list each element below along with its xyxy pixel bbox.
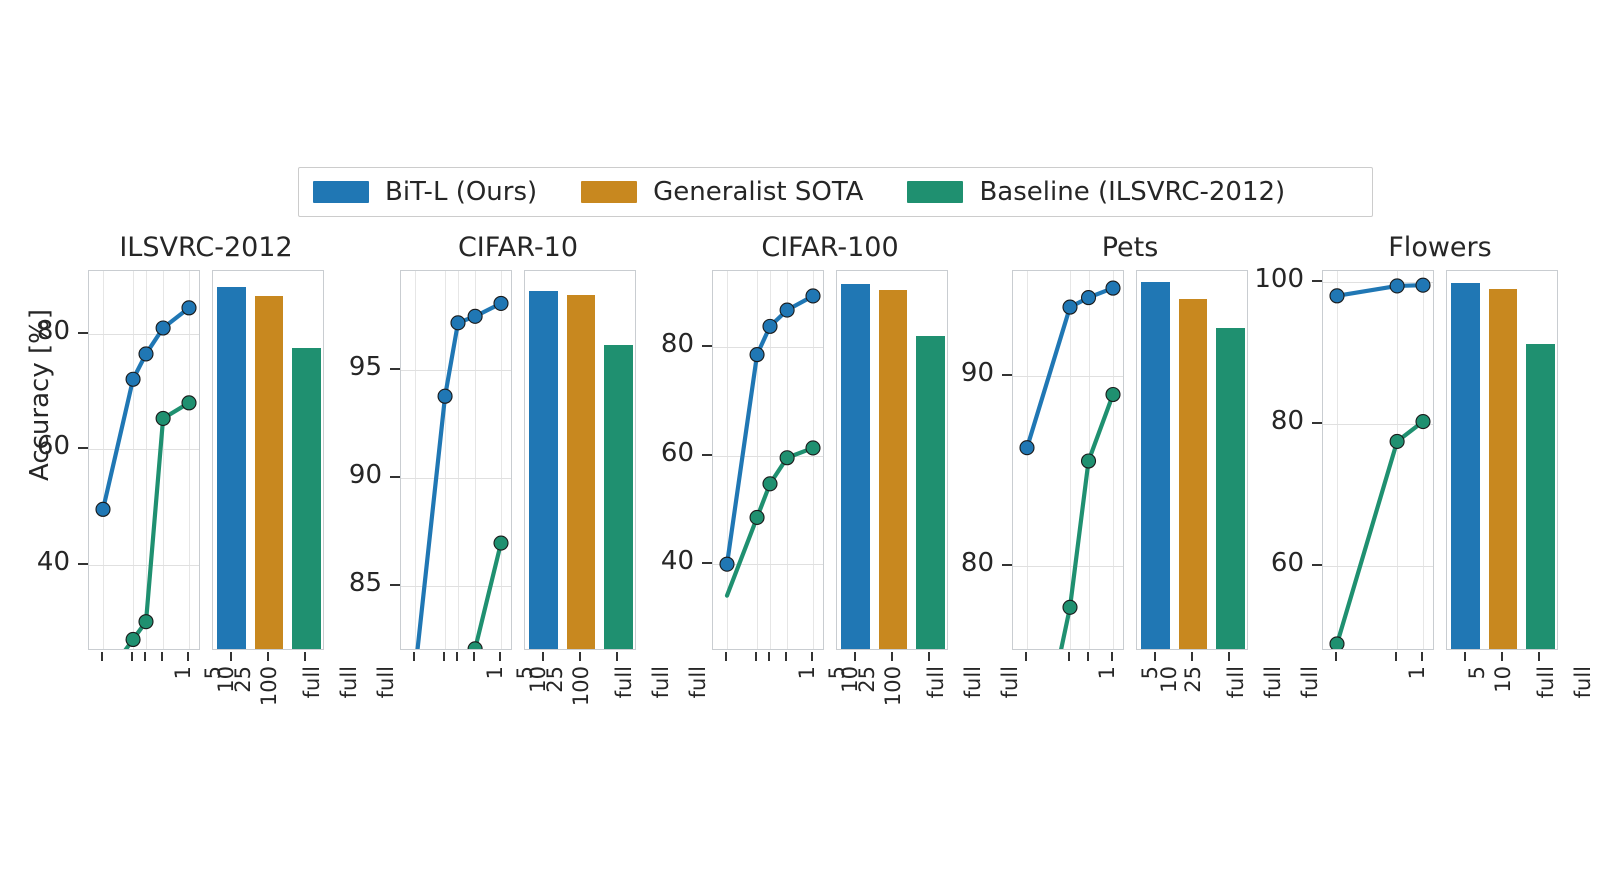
bar-baseline-ilsvrc-2012 — [1526, 344, 1554, 649]
y-axis-label: Accuracy [%] — [25, 265, 55, 525]
line-plot-area-cifar-100 — [713, 271, 823, 649]
data-point-bit-l-ours — [763, 319, 777, 333]
line-axes-cifar-10 — [400, 270, 512, 650]
data-point-baseline-ilsvrc-2012 — [806, 441, 820, 455]
bar-tick-mark — [854, 652, 856, 661]
data-point-baseline-ilsvrc-2012 — [494, 536, 508, 550]
legend-label-generalist-sota: Generalist SOTA — [653, 177, 863, 207]
bar-tick-label: full — [337, 666, 361, 726]
x-tick-label: 25 — [231, 666, 255, 726]
data-point-baseline-ilsvrc-2012 — [182, 396, 196, 410]
x-tick-mark — [161, 652, 163, 661]
data-point-bit-l-ours — [126, 372, 140, 386]
x-tick-label: 1 — [795, 666, 819, 726]
data-point-bit-l-ours — [139, 347, 153, 361]
bar-tick-mark — [1154, 652, 1156, 661]
legend-entry-generalist-sota: Generalist SOTA — [581, 168, 863, 216]
y-tick-mark — [390, 476, 400, 478]
data-point-bit-l-ours — [780, 303, 794, 317]
y-tick-label: 40 — [604, 546, 694, 576]
bar-generalist-sota — [567, 295, 595, 649]
bar-tick-label: full — [686, 666, 710, 726]
figure-root: BiT-L (Ours) Generalist SOTA Baseline (I… — [0, 0, 1600, 891]
bar-tick-mark — [1501, 652, 1503, 661]
data-point-bit-l-ours — [806, 289, 820, 303]
panel-title-flowers: Flowers — [1315, 232, 1565, 264]
data-point-baseline-ilsvrc-2012 — [763, 477, 777, 491]
x-tick-label: 25 — [1181, 666, 1205, 726]
x-tick-mark — [443, 652, 445, 661]
line-axes-flowers — [1322, 270, 1434, 650]
line-axes-pets — [1012, 270, 1124, 650]
x-tick-mark — [1025, 652, 1027, 661]
bar-baseline-ilsvrc-2012 — [1216, 328, 1244, 649]
y-tick-mark — [702, 345, 712, 347]
y-tick-label: 40 — [0, 547, 70, 577]
bar-plot-area-pets — [1137, 271, 1247, 649]
y-tick-label: 80 — [1214, 406, 1304, 436]
bar-bit-l-ours — [217, 287, 245, 649]
bar-bit-l-ours — [841, 284, 869, 649]
data-point-bit-l-ours — [750, 348, 764, 362]
bar-tick-label: full — [1571, 666, 1595, 726]
bar-tick-mark — [579, 652, 581, 661]
data-point-baseline-ilsvrc-2012 — [126, 632, 140, 646]
x-tick-mark — [725, 652, 727, 661]
x-tick-mark — [1335, 652, 1337, 661]
legend-swatch-generalist-sota — [581, 181, 637, 203]
series-layer-ilsvrc-2012 — [89, 271, 199, 649]
data-point-baseline-ilsvrc-2012 — [156, 411, 170, 425]
bar-tick-mark — [1228, 652, 1230, 661]
line-plot-area-cifar-10 — [401, 271, 511, 649]
bar-tick-label: full — [1224, 666, 1248, 726]
y-tick-mark — [1312, 422, 1322, 424]
x-tick-label: 25 — [543, 666, 567, 726]
data-point-bit-l-ours — [1020, 441, 1034, 455]
panel-cifar-100: CIFAR-100406080151025100fullfullfull — [712, 232, 948, 652]
x-tick-label: 10 — [1491, 666, 1515, 726]
chart-legend: BiT-L (Ours) Generalist SOTA Baseline (I… — [298, 167, 1373, 217]
series-line-bit-l-ours — [1337, 285, 1423, 296]
bar-tick-label: full — [1534, 666, 1558, 726]
series-line-baseline-ilsvrc-2012 — [103, 403, 189, 649]
data-point-bit-l-ours — [1416, 278, 1430, 292]
x-tick-mark — [1087, 652, 1089, 661]
x-tick-mark — [473, 652, 475, 661]
data-point-bit-l-ours — [1330, 289, 1344, 303]
bar-bit-l-ours — [1141, 282, 1169, 649]
bar-tick-mark — [1464, 652, 1466, 661]
y-tick-mark — [1002, 374, 1012, 376]
bar-tick-label: full — [612, 666, 636, 726]
panel-pets: Pets8090151025fullfullfull — [1012, 232, 1248, 652]
series-layer-flowers — [1323, 271, 1433, 649]
bar-baseline-ilsvrc-2012 — [292, 348, 320, 649]
bar-tick-mark — [616, 652, 618, 661]
x-tick-mark — [1068, 652, 1070, 661]
data-point-bit-l-ours — [438, 389, 452, 403]
bar-generalist-sota — [1179, 299, 1207, 649]
bar-axes-pets — [1136, 270, 1248, 650]
x-tick-mark — [144, 652, 146, 661]
panel-title-cifar-10: CIFAR-10 — [393, 232, 643, 264]
legend-label-bit-l: BiT-L (Ours) — [385, 177, 537, 207]
data-point-bit-l-ours — [720, 557, 734, 571]
data-point-bit-l-ours — [1063, 300, 1077, 314]
y-tick-label: 60 — [1214, 548, 1304, 578]
x-tick-label: 5 — [1465, 666, 1489, 726]
data-point-bit-l-ours — [451, 316, 465, 330]
y-tick-label: 90 — [904, 358, 994, 388]
x-tick-mark — [187, 652, 189, 661]
x-tick-mark — [1395, 652, 1397, 661]
bar-plot-area-cifar-100 — [837, 271, 947, 649]
series-layer-cifar-10 — [401, 271, 511, 649]
x-tick-mark — [755, 652, 757, 661]
y-tick-label: 95 — [292, 352, 382, 382]
bar-tick-label: full — [924, 666, 948, 726]
x-tick-label: 10 — [1157, 666, 1181, 726]
y-tick-mark — [702, 562, 712, 564]
legend-swatch-bit-l — [313, 181, 369, 203]
bar-tick-label: full — [961, 666, 985, 726]
bar-tick-label: full — [300, 666, 324, 726]
series-layer-pets — [1013, 271, 1123, 649]
bar-axes-flowers — [1446, 270, 1558, 650]
y-tick-label: 85 — [292, 568, 382, 598]
x-tick-label: 1 — [1405, 666, 1429, 726]
panel-title-ilsvrc-2012: ILSVRC-2012 — [81, 232, 331, 264]
line-axes-ilsvrc-2012 — [88, 270, 200, 650]
bar-tick-label: full — [1261, 666, 1285, 726]
panel-title-pets: Pets — [1005, 232, 1255, 264]
x-tick-mark — [1421, 652, 1423, 661]
data-point-bit-l-ours — [1106, 281, 1120, 295]
x-tick-label: 100 — [881, 666, 905, 726]
series-layer-cifar-100 — [713, 271, 823, 649]
x-tick-mark — [456, 652, 458, 661]
x-tick-mark — [1111, 652, 1113, 661]
x-tick-label: 25 — [855, 666, 879, 726]
bar-tick-mark — [542, 652, 544, 661]
x-tick-label: 100 — [569, 666, 593, 726]
bar-tick-mark — [891, 652, 893, 661]
line-plot-area-flowers — [1323, 271, 1433, 649]
x-tick-mark — [785, 652, 787, 661]
y-tick-label: 80 — [0, 316, 70, 346]
y-tick-mark — [702, 454, 712, 456]
bar-tick-label: full — [649, 666, 673, 726]
bar-baseline-ilsvrc-2012 — [604, 345, 632, 649]
line-axes-cifar-100 — [712, 270, 824, 650]
x-tick-mark — [811, 652, 813, 661]
data-point-bit-l-ours — [96, 502, 110, 516]
data-point-baseline-ilsvrc-2012 — [1330, 637, 1344, 649]
bar-tick-label: full — [1298, 666, 1322, 726]
legend-label-baseline: Baseline (ILSVRC-2012) — [979, 177, 1285, 207]
y-tick-mark — [78, 332, 88, 334]
data-point-bit-l-ours — [182, 301, 196, 315]
bar-generalist-sota — [255, 296, 283, 650]
bar-tick-label: full — [998, 666, 1022, 726]
data-point-baseline-ilsvrc-2012 — [780, 451, 794, 465]
y-tick-label: 100 — [1214, 264, 1304, 294]
data-point-baseline-ilsvrc-2012 — [1082, 454, 1096, 468]
legend-swatch-baseline — [907, 181, 963, 203]
data-point-bit-l-ours — [1390, 279, 1404, 293]
bar-plot-area-flowers — [1447, 271, 1557, 649]
y-tick-mark — [1312, 564, 1322, 566]
panel-cifar-10: CIFAR-10859095151025100fullfullfull — [400, 232, 636, 652]
x-tick-label: 100 — [257, 666, 281, 726]
data-point-bit-l-ours — [1082, 291, 1096, 305]
bar-bit-l-ours — [1451, 283, 1479, 650]
bar-generalist-sota — [879, 290, 907, 649]
y-tick-label: 60 — [604, 438, 694, 468]
y-tick-mark — [1002, 564, 1012, 566]
line-plot-area-ilsvrc-2012 — [89, 271, 199, 649]
legend-entry-bit-l: BiT-L (Ours) — [313, 168, 537, 216]
legend-entry-baseline: Baseline (ILSVRC-2012) — [907, 168, 1285, 216]
data-point-bit-l-ours — [494, 296, 508, 310]
data-point-baseline-ilsvrc-2012 — [1063, 600, 1077, 614]
x-tick-mark — [499, 652, 501, 661]
bar-tick-mark — [267, 652, 269, 661]
x-tick-label: 1 — [483, 666, 507, 726]
data-point-bit-l-ours — [156, 321, 170, 335]
line-plot-area-pets — [1013, 271, 1123, 649]
data-point-baseline-ilsvrc-2012 — [750, 510, 764, 524]
bar-bit-l-ours — [529, 291, 557, 649]
x-tick-mark — [101, 652, 103, 661]
y-tick-label: 80 — [904, 548, 994, 578]
x-tick-label: 1 — [171, 666, 195, 726]
bar-generalist-sota — [1489, 289, 1517, 649]
data-point-baseline-ilsvrc-2012 — [1416, 415, 1430, 429]
bar-tick-mark — [1538, 652, 1540, 661]
y-tick-mark — [78, 563, 88, 565]
y-tick-mark — [390, 584, 400, 586]
y-tick-label: 80 — [604, 329, 694, 359]
data-point-baseline-ilsvrc-2012 — [1390, 434, 1404, 448]
bar-axes-cifar-100 — [836, 270, 948, 650]
y-tick-mark — [78, 447, 88, 449]
x-tick-mark — [413, 652, 415, 661]
series-line-bit-l-ours — [727, 296, 813, 564]
y-tick-mark — [390, 368, 400, 370]
panel-ilsvrc-2012: ILSVRC-2012406080151025100fullfullfull — [88, 232, 324, 652]
data-point-baseline-ilsvrc-2012 — [1106, 388, 1120, 402]
y-tick-mark — [1312, 280, 1322, 282]
x-tick-label: 1 — [1095, 666, 1119, 726]
data-point-baseline-ilsvrc-2012 — [468, 642, 482, 649]
bar-tick-label: full — [374, 666, 398, 726]
series-line-baseline-ilsvrc-2012 — [458, 543, 501, 649]
y-tick-label: 90 — [292, 460, 382, 490]
bar-tick-mark — [1191, 652, 1193, 661]
x-tick-mark — [131, 652, 133, 661]
series-line-baseline-ilsvrc-2012 — [1337, 422, 1423, 644]
data-point-baseline-ilsvrc-2012 — [139, 615, 153, 629]
x-tick-mark — [768, 652, 770, 661]
y-tick-label: 60 — [0, 431, 70, 461]
panel-title-cifar-100: CIFAR-100 — [705, 232, 955, 264]
data-point-bit-l-ours — [468, 309, 482, 323]
bar-tick-mark — [304, 652, 306, 661]
bar-tick-mark — [230, 652, 232, 661]
bar-tick-mark — [928, 652, 930, 661]
panel-flowers: Flowers60801001510fullfullfull — [1322, 232, 1558, 652]
